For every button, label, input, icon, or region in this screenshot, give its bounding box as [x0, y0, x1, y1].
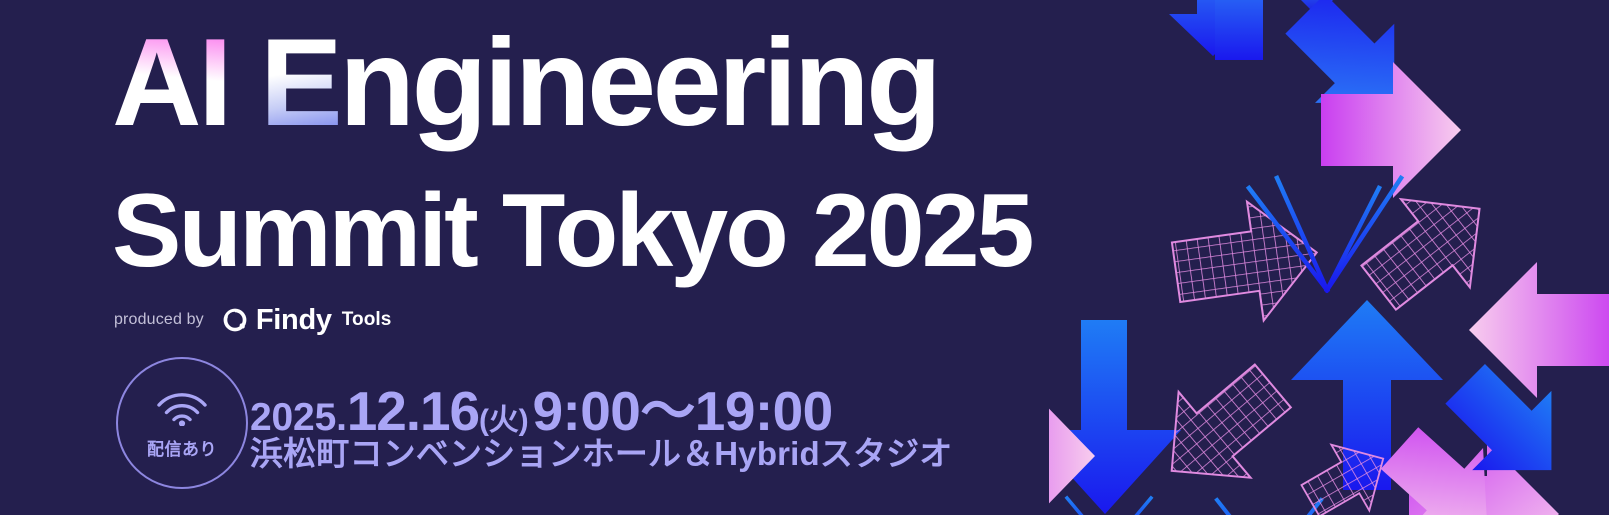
title-accent-e: E: [260, 14, 339, 152]
event-banner: AI Engineering Summit Tokyo 2025 produce…: [0, 0, 1609, 515]
title-space: [229, 14, 260, 152]
findy-circle-logo-icon: [222, 307, 248, 333]
findy-product-name: Tools: [342, 309, 392, 331]
produced-by-row: produced by Findy Tools: [114, 306, 391, 334]
title-accent-ai: AI: [112, 14, 229, 152]
page-title-line1: AI Engineering: [112, 24, 938, 143]
findy-brand-name: Findy: [256, 304, 332, 337]
produced-by-label: produced by: [114, 311, 204, 329]
title-rest: ngineering: [339, 14, 938, 152]
page-title-line2: Summit Tokyo 2025: [112, 182, 1032, 282]
streaming-badge: 配信あり: [116, 357, 248, 489]
banner-content: AI Engineering Summit Tokyo 2025 produce…: [112, 0, 1232, 515]
event-venue: 浜松町コンベンションホール＆Hybridスタジオ: [250, 427, 952, 475]
wifi-broadcast-icon: [154, 386, 210, 431]
streaming-badge-label: 配信あり: [147, 435, 217, 460]
